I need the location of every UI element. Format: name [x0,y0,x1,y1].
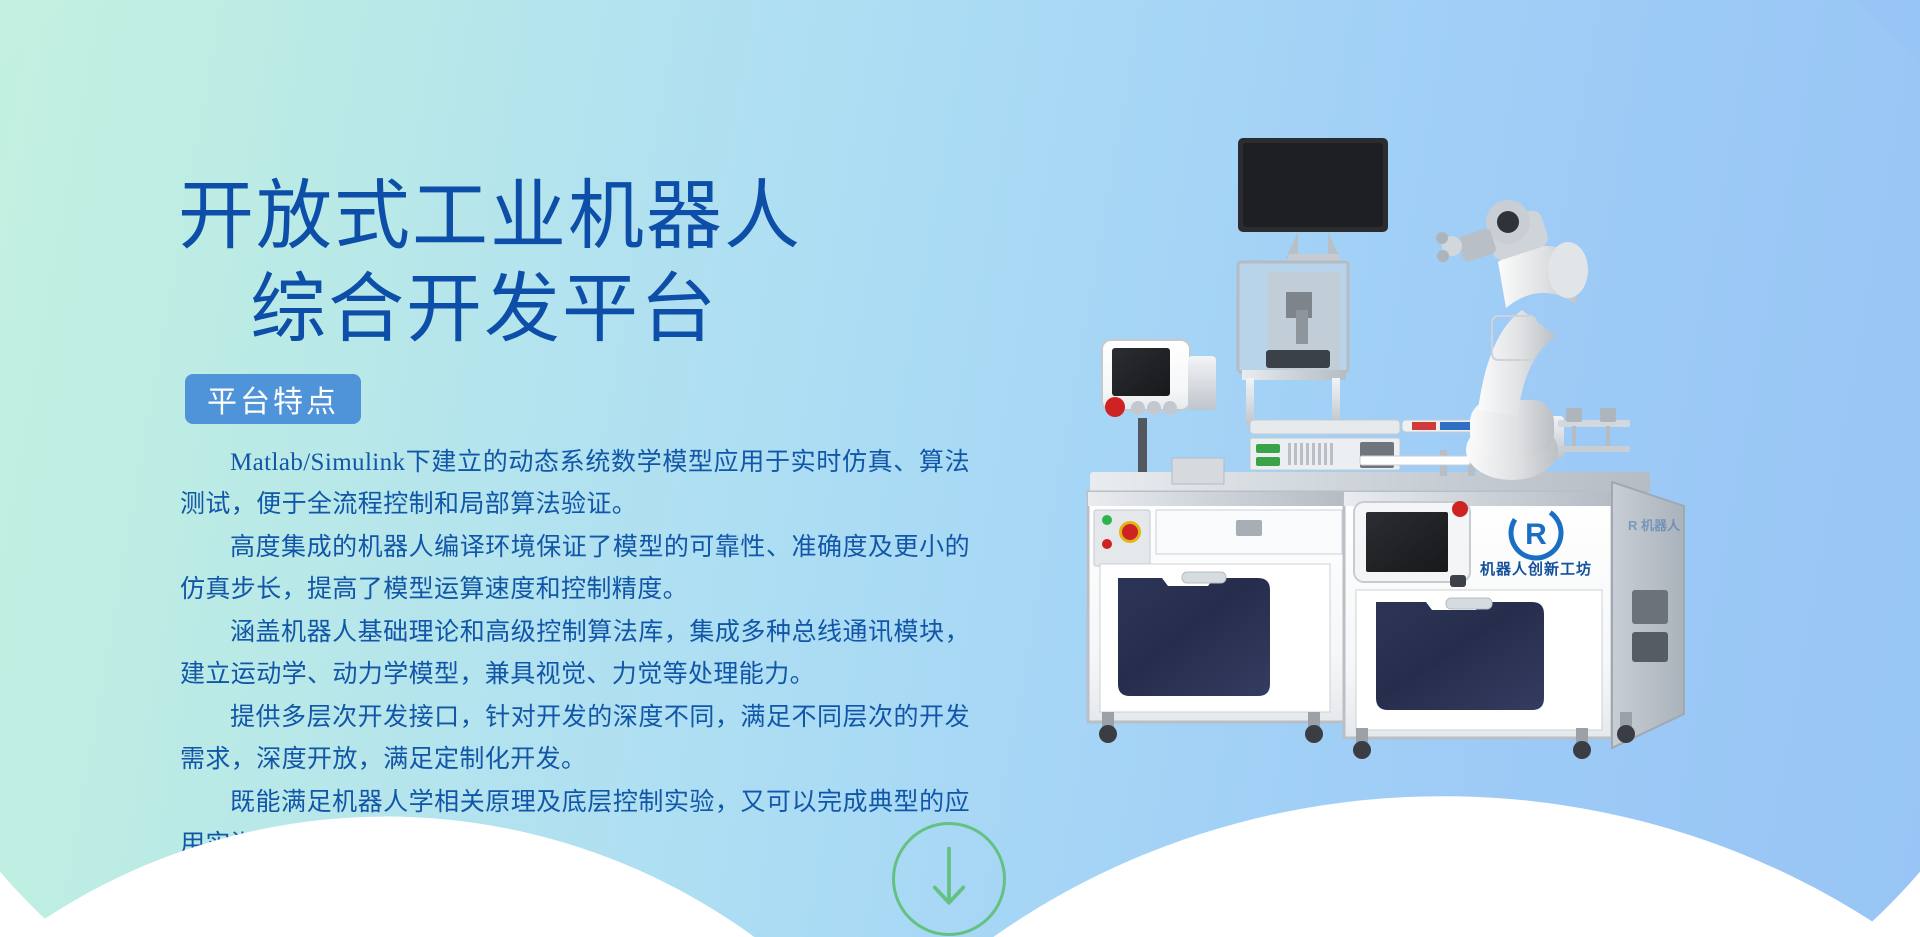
arrow-down-icon [895,825,1003,933]
headline-line-1: 开放式工业机器人 [150,171,930,264]
scroll-down-button[interactable] [892,822,1006,936]
equipment-cabinets: R 机器人创新工坊 R 机器人 [1088,482,1684,759]
hero-banner: R 机器人创新工坊 R 机器人 [0,0,1920,937]
svg-text:机器人创新工坊: 机器人创新工坊 [1480,560,1592,578]
worktable-top [1090,408,1650,492]
overhead-monitor [1238,138,1388,262]
feature-paragraph-4: 提供多层次开发接口，针对开发的深度不同，满足不同层次的开发需求，深度开放，满足定… [180,697,970,780]
side-brand-mark: R 机器人 [1628,518,1681,533]
section-badge-platform-features: 平台特点 [185,374,361,424]
headline-line-2: 综合开发平台 [150,264,930,357]
feature-paragraph-1: Matlab/Simulink下建立的动态系统数学模型应用于实时仿真、算法测试，… [180,442,970,525]
process-cell-enclosure [1238,262,1348,426]
svg-text:R 机器人: R 机器人 [1628,518,1681,533]
industrial-robot-arm [1436,200,1588,480]
tool-fixture [1558,408,1630,452]
feature-paragraph-3: 涵盖机器人基础理论和高级控制算法库，集成多种总线通讯模块，建立运动学、动力学模型… [180,612,970,695]
svg-text:R: R [1525,518,1547,551]
page-title: 开放式工业机器人 综合开发平台 [150,171,930,356]
robot-platform-illustration: R 机器人创新工坊 R 机器人 [1060,120,1700,770]
feature-description: Matlab/Simulink下建立的动态系统数学模型应用于实时仿真、算法测试，… [180,442,970,867]
feature-paragraph-2: 高度集成的机器人编译环境保证了模型的可靠性、准确度及更小的仿真步长，提高了模型运… [180,527,970,610]
